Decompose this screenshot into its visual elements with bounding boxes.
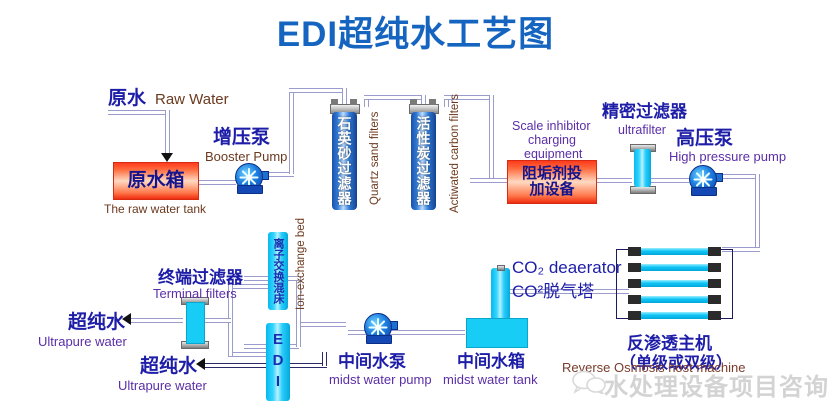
ro-right-manifold bbox=[720, 249, 733, 319]
carbon-filter-label: 活性炭过滤器 bbox=[411, 112, 436, 210]
ro-tube-end-left bbox=[628, 279, 641, 288]
carbon-filter-label-en: Actiwated carbon filters bbox=[449, 94, 462, 213]
raw-water-tank[interactable]: 原水箱 bbox=[113, 162, 199, 200]
ultrafilter-bottom-cap bbox=[630, 186, 656, 194]
quartz-sand-filter[interactable]: 石英砂过滤器 bbox=[332, 112, 357, 210]
carbon-filter-nozzle-left bbox=[410, 99, 417, 105]
ro-membrane-tube bbox=[638, 248, 710, 255]
arrow-ultrapure-out-2 bbox=[196, 358, 205, 370]
ultrapure-water-label-en-2: Ultrapure water bbox=[118, 379, 207, 394]
raw-water-tank-caption: The raw water tank bbox=[104, 203, 206, 216]
scale-inhibitor-equipment[interactable]: 阻垢剂投 加设备 bbox=[507, 160, 597, 204]
pipe-edi-branch bbox=[296, 322, 301, 347]
scale-eq-label-en-2: charging bbox=[528, 133, 576, 147]
booster-pump-label-cn: 增压泵 bbox=[213, 127, 270, 148]
pipe-ultrapure-out-2 bbox=[202, 363, 327, 368]
ro-membrane-tube bbox=[638, 312, 710, 319]
co2-deaerator-vent bbox=[497, 265, 505, 271]
high-pressure-pump-icon[interactable] bbox=[689, 165, 719, 195]
pipe-quartz-down bbox=[342, 88, 347, 104]
page-title: EDI超纯水工艺图 bbox=[0, 6, 831, 57]
arrow-into-raw-tank bbox=[161, 153, 173, 162]
terminal-filter-label-cn: 终端过滤器 bbox=[158, 268, 243, 287]
terminal-filter-label-en: Terminal filters bbox=[153, 287, 237, 302]
ro-membrane-tube bbox=[638, 264, 710, 271]
watermark-text: 水处理设备项目咨询 bbox=[604, 367, 829, 402]
booster-pump-icon[interactable] bbox=[235, 163, 265, 193]
midst-tank-label-en: midst water tank bbox=[443, 373, 538, 388]
ultrafilter-label-cn: 精密过滤器 bbox=[602, 102, 687, 121]
quartz-filter-nozzle-left bbox=[331, 99, 338, 105]
pipe-raw-water-inlet bbox=[108, 110, 170, 115]
carbon-filter-nozzle-right bbox=[429, 99, 436, 105]
pump-base bbox=[366, 335, 392, 344]
raw-water-label-cn: 原水 bbox=[108, 88, 146, 109]
terminal-filter[interactable] bbox=[186, 302, 205, 344]
pipe-booster-riser bbox=[289, 88, 294, 174]
quartz-filter-label: 石英砂过滤器 bbox=[332, 112, 357, 210]
wechat-icon bbox=[572, 370, 606, 394]
pump-base bbox=[691, 187, 717, 196]
quartz-filter-nozzle-right bbox=[350, 99, 357, 105]
activated-carbon-filter[interactable]: 活性炭过滤器 bbox=[411, 112, 436, 210]
hp-pump-label-cn: 高压泵 bbox=[676, 128, 733, 149]
ultrafilter[interactable] bbox=[634, 149, 651, 187]
pipe-tank-to-booster bbox=[196, 180, 236, 185]
co2-label-en: CO₂ deaerator bbox=[512, 258, 622, 277]
ro-tube-end-left bbox=[628, 247, 641, 256]
ro-tube-end-left bbox=[628, 311, 641, 320]
ro-label-cn-1: 反渗透主机 bbox=[627, 334, 712, 353]
raw-water-label-en: Raw Water bbox=[155, 92, 229, 109]
scale-eq-label-en-3: equipment bbox=[524, 147, 582, 161]
booster-pump-label-en: Booster Pump bbox=[205, 150, 287, 165]
hp-pump-label-en: High pressure pump bbox=[669, 150, 786, 165]
pipe-to-quartz-top bbox=[289, 88, 347, 93]
pipe-edi-out bbox=[228, 352, 268, 357]
ultrapure-water-label-cn-2: 超纯水 bbox=[140, 356, 197, 377]
quartz-filter-label-en: Quartz sand filters bbox=[369, 112, 382, 205]
ion-exchange-bed-label: 离子交换混床 bbox=[268, 232, 288, 310]
scale-eq-label-en-1: Scale inhibitor bbox=[512, 119, 591, 133]
ion-exchange-bed[interactable]: 离子交换混床 bbox=[268, 232, 288, 310]
pipe-ultrapure-out-1 bbox=[128, 318, 183, 323]
ion-bed-label-en: Ion-exchange bed bbox=[295, 218, 308, 310]
edi-module-label: EDI bbox=[266, 323, 290, 401]
pipe-carbon-out-drop bbox=[489, 95, 494, 180]
scale-eq-label-line2: 加设备 bbox=[529, 182, 574, 198]
ro-tube-end-left bbox=[628, 295, 641, 304]
ultrapure-water-label-cn-1: 超纯水 bbox=[68, 312, 125, 333]
pipe-hp-to-ro-drop bbox=[755, 174, 760, 250]
pipe-midst-pump-out bbox=[296, 322, 346, 327]
pipe-ultrafilter-to-hp-pump bbox=[649, 178, 689, 183]
midst-tank-label-cn: 中间水箱 bbox=[457, 352, 525, 371]
pump-base bbox=[237, 185, 263, 194]
pipe-raw-water-drop bbox=[165, 110, 170, 158]
pipe-scale-to-ultrafilter bbox=[594, 178, 632, 183]
ultrapure-water-label-en-1: Ultrapure water bbox=[38, 335, 127, 350]
co2-label-cn: CO²脱气塔 bbox=[512, 282, 594, 301]
reverse-osmosis-rack[interactable] bbox=[624, 245, 732, 329]
edi-module[interactable]: EDI bbox=[266, 323, 290, 401]
co2-deaerator-column[interactable] bbox=[491, 268, 510, 320]
pipe-ultrapure-2-riser bbox=[322, 352, 327, 366]
raw-water-tank-label: 原水箱 bbox=[127, 171, 184, 191]
midst-water-pump-icon[interactable] bbox=[364, 313, 394, 343]
ultrafilter-label-en: ultrafilter bbox=[618, 123, 666, 137]
pipe-to-terminal-filter bbox=[203, 318, 231, 323]
midst-water-tank[interactable] bbox=[466, 318, 528, 348]
midst-pump-label-cn: 中间水泵 bbox=[338, 352, 406, 371]
pipe-into-scale-eq bbox=[470, 178, 510, 183]
midst-pump-label-en: midst water pump bbox=[329, 373, 432, 388]
scale-eq-label-line1: 阻垢剂投 bbox=[522, 166, 582, 182]
ro-tube-end-left bbox=[628, 263, 641, 272]
process-diagram-canvas: EDI超纯水工艺图 bbox=[0, 0, 831, 409]
ro-membrane-tube bbox=[638, 280, 710, 287]
ro-membrane-tube bbox=[638, 296, 710, 303]
